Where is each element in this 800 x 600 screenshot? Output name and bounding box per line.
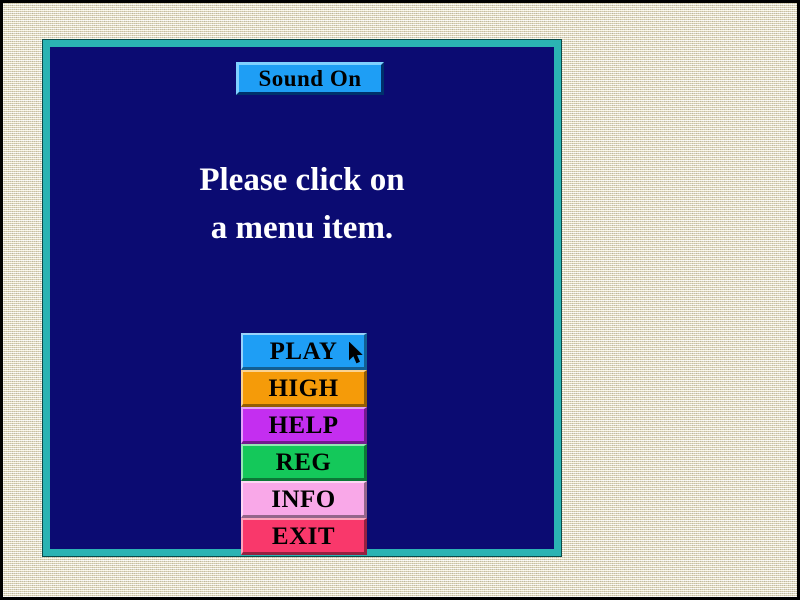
prompt-message: Please click on a menu item. <box>50 157 554 253</box>
menu-item-play-label: PLAY <box>270 339 338 364</box>
menu-item-exit[interactable]: EXIT <box>241 518 367 555</box>
menu-item-help[interactable]: HELP <box>241 407 367 444</box>
menu-item-info[interactable]: INFO <box>241 481 367 518</box>
main-menu: PLAY HIGH HELP REG INFO EXIT <box>241 333 367 555</box>
sound-toggle-label: Sound On <box>258 67 361 90</box>
prompt-line-2: a menu item. <box>50 205 554 253</box>
menu-item-high-label: HIGH <box>268 376 338 401</box>
app-screen: Sound On Please click on a menu item. PL… <box>0 0 800 600</box>
menu-item-info-label: INFO <box>271 487 336 512</box>
menu-item-reg[interactable]: REG <box>241 444 367 481</box>
menu-item-reg-label: REG <box>276 450 332 475</box>
sound-toggle-button[interactable]: Sound On <box>236 62 384 95</box>
menu-item-help-label: HELP <box>268 413 338 438</box>
menu-item-high[interactable]: HIGH <box>241 370 367 407</box>
game-panel: Sound On Please click on a menu item. PL… <box>43 40 561 556</box>
prompt-line-1: Please click on <box>50 157 554 205</box>
menu-item-exit-label: EXIT <box>272 524 335 549</box>
menu-item-play[interactable]: PLAY <box>241 333 367 370</box>
